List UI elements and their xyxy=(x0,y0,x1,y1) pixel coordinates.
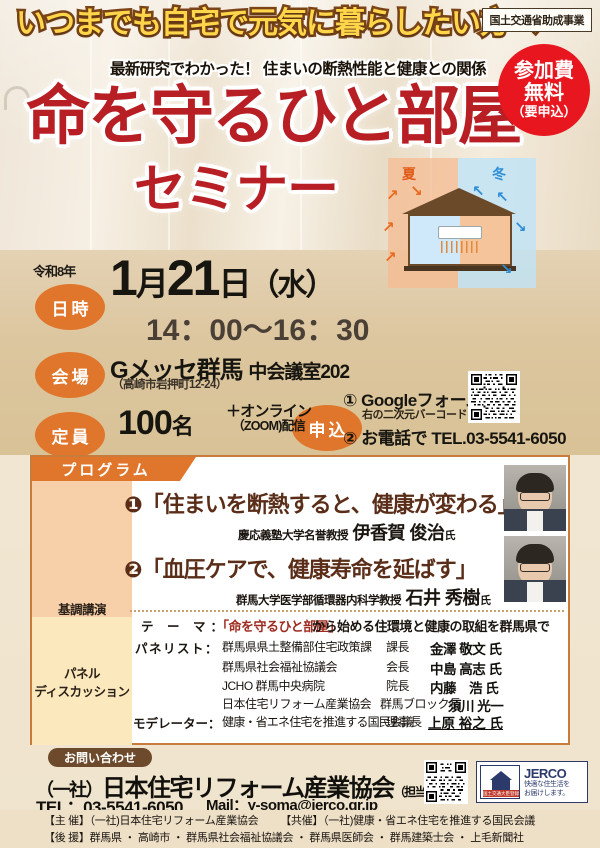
venue-room: 中会議室202 xyxy=(248,362,349,383)
page-title-text: 命を守るひと部屋 xyxy=(26,80,520,152)
panelist-2-name: 内藤 浩 氏 xyxy=(430,677,498,697)
era-year-label: 令和8年 xyxy=(33,261,75,280)
date-month-unit: 月 xyxy=(136,265,167,302)
panelist-label: パネリスト： xyxy=(135,638,219,657)
capacity-number: 100 xyxy=(118,404,172,442)
date-month-number: 1 xyxy=(110,250,136,306)
moderator-name: 上原 裕之 氏 xyxy=(428,712,503,732)
free-badge-line3: （要申込） xyxy=(511,105,576,119)
summer-label: 夏 xyxy=(402,164,416,184)
capacity-online-note: ＋オンライン （ZOOM)配信 xyxy=(226,404,311,433)
qr-code-application[interactable] xyxy=(468,371,520,423)
panelist-2-org: JCHO 群馬中央病院 xyxy=(222,677,325,694)
qr-code-contact[interactable] xyxy=(424,760,468,804)
panelist-0-name: 金澤 敬文 氏 xyxy=(430,638,502,658)
ministry-subsidy-badge: 国土交通省助成事業 xyxy=(482,8,593,32)
moderator-org: 健康・省エネ住宅を推進する国民会議 xyxy=(222,713,412,730)
qr-code-svg xyxy=(471,374,517,420)
lecture-1-number: ❶ xyxy=(124,492,142,517)
keynote-column-bg xyxy=(32,481,132,617)
illustration-child xyxy=(395,250,480,355)
jerco-brand: JERCO xyxy=(524,766,570,781)
jerco-registration-mark-icon: 国土交通大臣登録 xyxy=(480,765,520,799)
footer-host-line: 【主 催】（一社)日本住宅リフォーム産業協会【共催】（一社)健康・省エネ住宅を推… xyxy=(44,812,535,828)
speaker-1-photo xyxy=(504,465,566,531)
capacity-unit: 名 xyxy=(172,414,193,439)
program-divider xyxy=(130,610,564,612)
panel-label: パネル ディスカッション xyxy=(32,665,132,701)
panelist-0-role: 課長 xyxy=(386,638,409,655)
lecture-1-affiliation: 慶応義塾大学名誉教授 xyxy=(238,530,348,542)
qr-code-contact-svg xyxy=(426,762,466,802)
support-label: 【後 援】 xyxy=(44,832,90,844)
jerco-tagline-2: お届けします。 xyxy=(524,790,570,799)
jerco-tagline-1: 快適な住生活を xyxy=(524,781,570,790)
moderator-role: 理事長 xyxy=(386,713,422,730)
lecture-1-speaker: 慶応義塾大学名誉教授 伊香賀 俊治氏 xyxy=(238,519,455,545)
theme-rest: から始める住環境と健康の取組を群馬県で xyxy=(312,616,550,635)
free-badge-line1: 参加費 xyxy=(514,61,574,83)
free-badge-line2: 無料 xyxy=(524,83,564,105)
keynote-label: 基調講演 xyxy=(32,601,132,619)
free-participation-badge: 参加費 無料 （要申込） xyxy=(498,44,590,136)
date-day-unit: 日 xyxy=(218,265,249,302)
lecture-2-speaker: 群馬大学医学部循環器内科学教授 石井 秀樹氏 xyxy=(236,584,491,610)
theme-label: テ ー マ： xyxy=(141,616,228,635)
panelist-1-name: 中島 高志 氏 xyxy=(430,658,502,678)
panel-label-line2: ディスカッション xyxy=(34,685,129,699)
speaker-2-photo xyxy=(504,536,566,602)
program-tab-label: プログラム xyxy=(32,457,180,481)
cohost-name: （一社)健康・省エネ住宅を推進する国民会議 xyxy=(323,815,535,827)
panelist-1-org: 群馬県社会福祉協議会 xyxy=(222,658,337,675)
apply-method-phone[interactable]: ② お電話で TEL.03-5541-6050 xyxy=(343,424,566,449)
host-name: （一社)日本住宅リフォーム産業協会 xyxy=(90,815,259,827)
panelist-1-role: 会長 xyxy=(386,658,409,675)
lecture-2-affiliation: 群馬大学医学部循環器内科学教授 xyxy=(236,595,401,607)
lecture-2-number: ❷ xyxy=(124,557,142,582)
moderator-label: モデレーター： xyxy=(133,713,221,732)
badge-capacity: 定員 xyxy=(35,412,105,458)
event-time: 14：00〜16：30 xyxy=(146,305,369,349)
illustration-family xyxy=(470,150,600,310)
page-subheadline: 最新研究でわかった！ 住まいの断熱性能と健康との関係 xyxy=(110,57,500,79)
contact-tab-label: お問い合わせ xyxy=(48,748,152,767)
badge-venue: 会場 xyxy=(35,352,105,398)
support-names: 群馬県 ・ 高崎市 ・ 群馬県社会福祉協議会 ・ 群馬県医師会 ・ 群馬建築士会… xyxy=(90,832,524,844)
lecture-2-title-text: 「血圧ケアで、健康寿命を延ばす」 xyxy=(142,557,477,582)
lecture-2-name: 石井 秀樹 xyxy=(405,588,480,608)
event-capacity: 100名 xyxy=(118,404,193,443)
date-day-number: 21 xyxy=(167,250,219,306)
capacity-online-line1: ＋オンライン xyxy=(226,403,311,420)
lecture-1-title-text: 「住まいを断熱すると、健康が変わる」 xyxy=(142,492,519,517)
page-headline: いつまでも自宅で元気に暮らしたい方へ xyxy=(16,6,476,42)
cohost-label: 【共催】 xyxy=(280,815,323,827)
jerco-logo: 国土交通大臣登録 JERCO 快適な住生活を お届けします。 xyxy=(476,761,588,803)
poster-root: いつまでも自宅で元気に暮らしたい方へ 国土交通省助成事業 最新研究でわかった！ … xyxy=(0,0,600,848)
panel-label-line1: パネル xyxy=(64,667,100,681)
lecture-2-suffix: 氏 xyxy=(480,595,491,607)
panelist-3-org: 日本住宅リフォーム産業協会 xyxy=(222,695,371,712)
lecture-1-suffix: 氏 xyxy=(444,530,455,542)
jerco-mark-bottom-text: 国土交通大臣登録 xyxy=(483,790,519,797)
lecture-1-name: 伊香賀 俊治 xyxy=(352,523,444,543)
panelist-2-role: 院長 xyxy=(386,677,409,694)
lecture-1-title: ❶「住まいを断熱すると、健康が変わる」 xyxy=(124,487,519,519)
footer-support-line: 【後 援】群馬県 ・ 高崎市 ・ 群馬県社会福祉協議会 ・ 群馬県医師会 ・ 群… xyxy=(44,829,524,845)
host-label: 【主 催】 xyxy=(44,815,90,827)
event-date: 1月21日（水） xyxy=(110,252,333,312)
badge-date: 日時 xyxy=(35,284,105,330)
lecture-2-title: ❷「血圧ケアで、健康寿命を延ばす」 xyxy=(124,552,477,584)
capacity-online-line2: （ZOOM)配信 xyxy=(226,420,311,433)
panelist-0-org: 群馬県県土整備部住宅政策課 xyxy=(222,638,372,655)
venue-address: （高崎市岩押町12-24） xyxy=(112,376,227,392)
date-weekday: （水） xyxy=(249,269,333,302)
page-title: 命を守るひと部屋 xyxy=(26,82,496,150)
